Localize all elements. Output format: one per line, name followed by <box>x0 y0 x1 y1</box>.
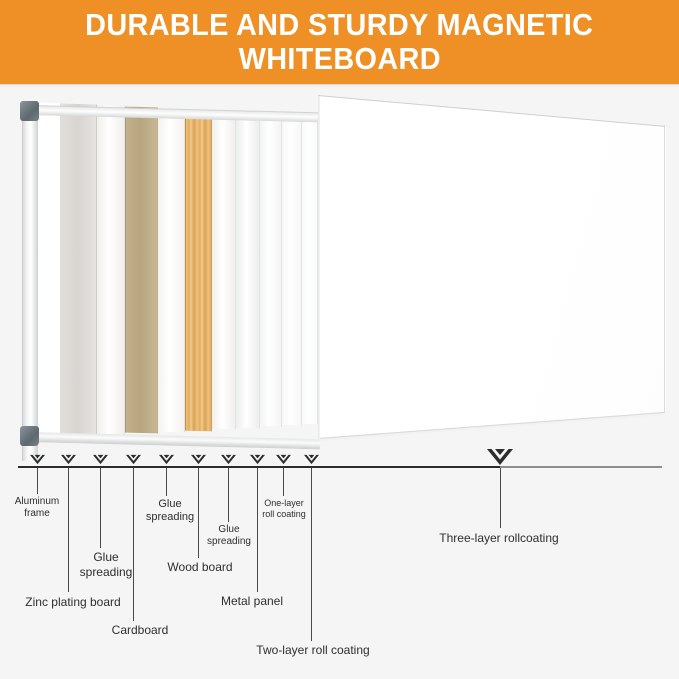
callout-leader-glue-spreading-2 <box>166 468 167 496</box>
callout-label-cardboard: Cardboard <box>112 623 169 638</box>
callout-label-glue-spreading-1: Glue spreading <box>80 550 133 579</box>
callout-leader-three-layer-rollcoating <box>500 468 501 528</box>
header-banner: DURABLE AND STURDY MAGNETIC WHITEBOARD <box>0 0 679 84</box>
callout-marker-glue-spreading-1 <box>93 454 108 465</box>
callout-marker-aluminum-frame <box>30 454 45 465</box>
layer-glue-spreading-1 <box>97 105 125 435</box>
callout-leader-aluminum-frame <box>37 468 38 494</box>
callout-leader-two-layer-roll-coating <box>311 468 312 641</box>
callout-label-zinc-plating-board: Zinc plating board <box>25 595 120 610</box>
callout-marker-cardboard <box>126 454 141 465</box>
layer-white-gap <box>37 102 60 438</box>
callout-label-aluminum-frame: Aluminum frame <box>15 496 59 520</box>
layer-face <box>282 117 302 425</box>
layer-one-layer-roll-coating <box>260 115 282 427</box>
layer-face <box>125 107 158 434</box>
callout-leader-cardboard <box>133 468 134 621</box>
layer-glue-spreading-2 <box>158 109 185 433</box>
callout-marker-one-layer-roll-coating <box>276 454 291 465</box>
callout-label-wood-board: Wood board <box>167 560 232 575</box>
layer-face <box>260 115 282 427</box>
callout-marker-wood-board <box>191 454 206 465</box>
layer-face <box>212 112 236 430</box>
callout-label-metal-panel: Metal panel <box>221 594 283 609</box>
aluminum-frame-bottom-rail <box>30 432 320 449</box>
callout-marker-two-layer-roll-coating <box>304 454 319 465</box>
callout-marker-glue-spreading-3 <box>221 454 236 465</box>
callout-marker-glue-spreading-2 <box>159 454 174 465</box>
board-edge-right <box>664 125 665 412</box>
infographic-canvas: DURABLE AND STURDY MAGNETIC WHITEBOARD A… <box>0 0 679 679</box>
header-title-line2: WHITEBOARD <box>238 42 440 76</box>
callout-leader-wood-board <box>198 468 199 558</box>
callout-label-glue-spreading-2: Glue spreading <box>146 498 194 525</box>
layer-face <box>185 110 212 431</box>
callout-marker-zinc-plating-board <box>61 454 76 465</box>
layer-face <box>158 109 185 433</box>
corner-bracket-top-left-icon <box>20 101 39 121</box>
board-edge-left <box>318 96 320 439</box>
layer-edge-sliver <box>302 118 318 423</box>
callout-leader-zinc-plating-board <box>68 468 69 592</box>
layer-zinc-plating-board <box>60 104 97 437</box>
whiteboard-illustration <box>0 87 679 467</box>
callout-leader-metal-panel <box>257 468 258 592</box>
layer-face <box>97 105 125 435</box>
callout-leader-glue-spreading-1 <box>100 468 101 548</box>
callout-label-one-layer-roll-coating: One-layer roll coating <box>262 498 306 520</box>
layer-face <box>60 104 97 437</box>
layer-two-layer-roll-coating <box>282 117 302 425</box>
aluminum-frame-left-rail <box>22 109 38 461</box>
layer-face <box>302 118 318 423</box>
callout-axis-tail <box>500 466 662 468</box>
whiteboard-front-face <box>316 87 666 447</box>
callout-label-two-layer-roll-coating: Two-layer roll coating <box>256 643 369 658</box>
callout-marker-metal-panel <box>250 454 265 465</box>
callout-leader-glue-spreading-3 <box>228 468 229 522</box>
layer-glue-spreading-3 <box>212 112 236 430</box>
layer-cardboard <box>125 107 158 434</box>
callout-leader-one-layer-roll-coating <box>283 468 284 496</box>
callout-label-three-layer-rollcoating: Three-layer rollcoating <box>439 531 558 546</box>
header-title-line1: DURABLE AND STURDY MAGNETIC <box>85 8 593 42</box>
callout-label-glue-spreading-3: Glue spreading <box>207 524 251 548</box>
callout-marker-three-layer-rollcoating <box>487 449 513 465</box>
layer-face <box>236 114 260 429</box>
layer-wood-board <box>185 110 212 431</box>
corner-bracket-bottom-left-icon <box>20 426 39 446</box>
layer-face <box>37 102 60 438</box>
layer-metal-panel <box>236 114 260 429</box>
